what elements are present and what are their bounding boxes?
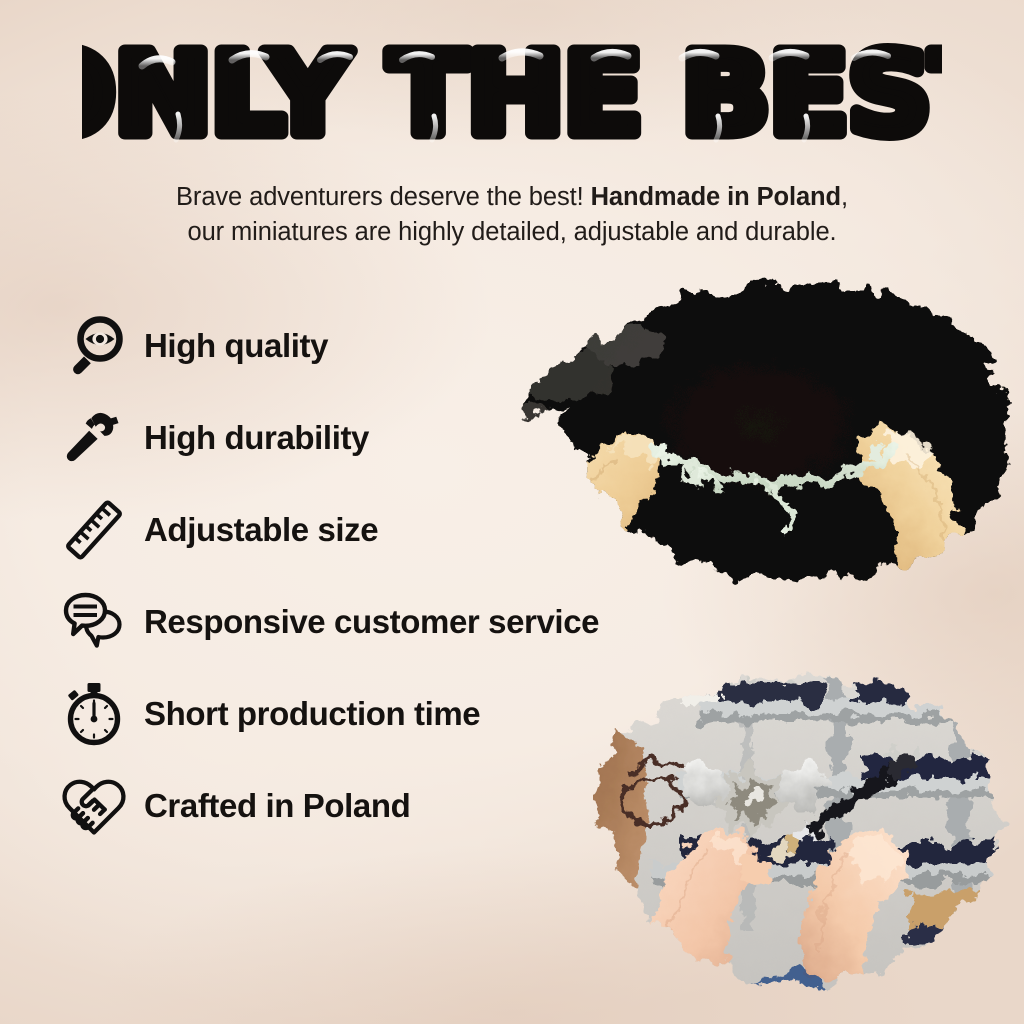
page-title: ONLY THE BEST [0, 30, 1024, 160]
subtitle-line-1: Brave adventurers deserve the best! Hand… [176, 183, 848, 211]
poster-canvas: ONLY THE BEST Brave adventurers deserve … [0, 0, 1024, 1024]
feature-label: Adjustable size [144, 511, 378, 549]
stopwatch-icon [58, 678, 130, 750]
subtitle: Brave adventurers deserve the best! Hand… [82, 180, 942, 250]
ruler-icon [58, 494, 130, 566]
subtitle-line-2: our miniatures are highly detailed, adju… [187, 218, 836, 246]
feature-label: High durability [144, 419, 369, 457]
subtitle-lead: Brave adventurers deserve the best! [176, 183, 591, 211]
feature-label: High quality [144, 327, 328, 365]
feature-label: Short production time [144, 695, 480, 733]
magnifier-eye-icon [58, 310, 130, 382]
svg-text:ONLY THE BEST: ONLY THE BEST [82, 30, 942, 159]
photo-hand-painting-miniature [556, 648, 1024, 1024]
speech-bubbles-icon [58, 586, 130, 658]
photo-flexible-miniature-part [492, 268, 1024, 618]
hammer-icon [58, 402, 130, 474]
heart-handshake-icon [58, 770, 130, 842]
subtitle-emphasis: Handmade in Poland [591, 183, 841, 211]
feature-label: Crafted in Poland [144, 787, 410, 825]
subtitle-comma: , [841, 183, 848, 211]
